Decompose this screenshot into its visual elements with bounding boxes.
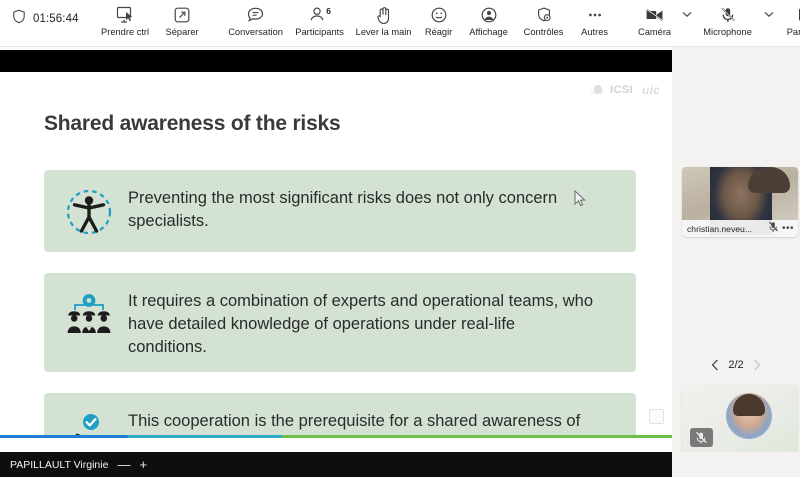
share-label: Partager [787, 27, 800, 38]
view-icon [480, 5, 498, 25]
handshake-check-icon [62, 408, 116, 438]
pager-prev-button[interactable] [711, 359, 719, 371]
smiley-icon [430, 5, 448, 25]
react-label: Réagir [425, 27, 452, 38]
react-button[interactable]: Réagir [417, 0, 461, 45]
slide-accent-stripe [0, 435, 672, 438]
pager-label: 2/2 [728, 359, 743, 371]
tile-name-bar: christian.neveu... ••• [682, 220, 798, 237]
icsi-logo-text: ICSI [610, 84, 633, 96]
participants-count: 6 [326, 6, 331, 16]
ellipsis-icon [586, 5, 604, 25]
tile-overflow-menu[interactable]: ••• [782, 225, 794, 233]
take-control-button[interactable]: Prendre ctrl [97, 0, 154, 45]
camera-off-icon [644, 5, 666, 25]
controls-shield-icon [535, 5, 553, 25]
raise-hand-button[interactable]: Lever la main [351, 0, 417, 45]
teams-meeting-window: 01:56:44 Prendre ctrl [0, 0, 800, 477]
presenter-bar: PAPILLAULT Virginie — + [0, 452, 672, 477]
pop-out-icon [173, 5, 191, 25]
chat-button[interactable]: Conversation [223, 0, 289, 45]
team-with-gear-icon [62, 288, 116, 342]
participants-label: Participants [295, 27, 344, 38]
chevron-down-icon [682, 11, 692, 18]
minimize-button[interactable]: — [117, 460, 130, 470]
icsi-logo: ICSI [590, 84, 633, 97]
rail-pager: 2/2 [672, 352, 800, 378]
card-text: This cooperation is the prerequisite for… [128, 406, 598, 438]
meeting-timer: 01:56:44 [0, 0, 79, 47]
meeting-toolbar: 01:56:44 Prendre ctrl [0, 0, 800, 47]
chevron-left-icon [711, 359, 719, 371]
raise-hand-label: Lever la main [356, 27, 412, 38]
more-label: Autres [581, 27, 608, 38]
camera-label: Caméra [638, 27, 671, 38]
rail-bottom-filler [672, 452, 800, 477]
mic-off-icon [768, 220, 779, 238]
more-button[interactable]: Autres [571, 0, 619, 45]
mic-off-icon [718, 5, 738, 25]
controls-label: Contrôles [524, 27, 564, 38]
avatar-hair [733, 394, 765, 416]
slide-corner-button[interactable] [649, 409, 664, 424]
camera-options-chevron[interactable] [679, 0, 695, 45]
view-button[interactable]: Affichage [461, 0, 517, 45]
page-title: Shared awareness of the risks [44, 112, 341, 136]
slide-logos: ICSI uic [590, 83, 660, 97]
participant-name: christian.neveu... [687, 224, 765, 234]
avatar [726, 393, 772, 439]
take-control-label: Prendre ctrl [101, 27, 149, 38]
chat-label: Conversation [228, 27, 283, 38]
pop-out-label: Séparer [166, 27, 199, 38]
take-control-icon [115, 5, 135, 25]
card-item: It requires a combination of experts and… [44, 273, 636, 372]
pop-out-button[interactable]: Séparer [154, 0, 211, 45]
participants-button[interactable]: 6 Participants [289, 0, 351, 45]
view-label: Affichage [469, 27, 508, 38]
letterbox-bar [0, 50, 672, 72]
raise-hand-icon [375, 5, 392, 25]
slide-cards: Preventing the most significant risks do… [44, 170, 636, 438]
shared-content-stage: ICSI uic Shared awareness of the risks [0, 47, 672, 452]
uic-logo-text: uic [642, 83, 660, 97]
camera-button[interactable]: Caméra [631, 0, 679, 45]
share-button[interactable]: Partager [777, 0, 800, 45]
participants-rail: christian.neveu... ••• 2/2 [672, 47, 800, 477]
presentation-slide[interactable]: ICSI uic Shared awareness of the risks [0, 72, 672, 438]
avatar-hair [748, 167, 790, 193]
chat-icon [246, 5, 265, 25]
card-item: This cooperation is the prerequisite for… [44, 393, 636, 438]
pager-next-button[interactable] [753, 359, 761, 371]
shield-icon [12, 9, 26, 29]
mic-off-icon [695, 431, 708, 445]
video-tile[interactable]: christian.neveu... ••• [682, 167, 798, 237]
person-in-dashed-circle-icon [62, 185, 116, 239]
card-item: Preventing the most significant risks do… [44, 170, 636, 252]
card-text: Preventing the most significant risks do… [128, 183, 598, 233]
expand-button[interactable]: + [139, 460, 147, 470]
card-text: It requires a combination of experts and… [128, 286, 598, 359]
video-tile[interactable] [682, 385, 798, 455]
share-up-arrow-icon [796, 5, 800, 25]
people-icon: 6 [309, 5, 330, 25]
microphone-options-chevron[interactable] [761, 0, 777, 45]
timer-text: 01:56:44 [33, 13, 79, 25]
microphone-label: Microphone [703, 27, 752, 38]
controls-button[interactable]: Contrôles [517, 0, 571, 45]
microphone-button[interactable]: Microphone [695, 0, 761, 45]
chevron-right-icon [753, 359, 761, 371]
chevron-down-icon [764, 11, 774, 18]
presenter-name: PAPILLAULT Virginie [10, 459, 108, 471]
mute-badge [690, 428, 713, 447]
